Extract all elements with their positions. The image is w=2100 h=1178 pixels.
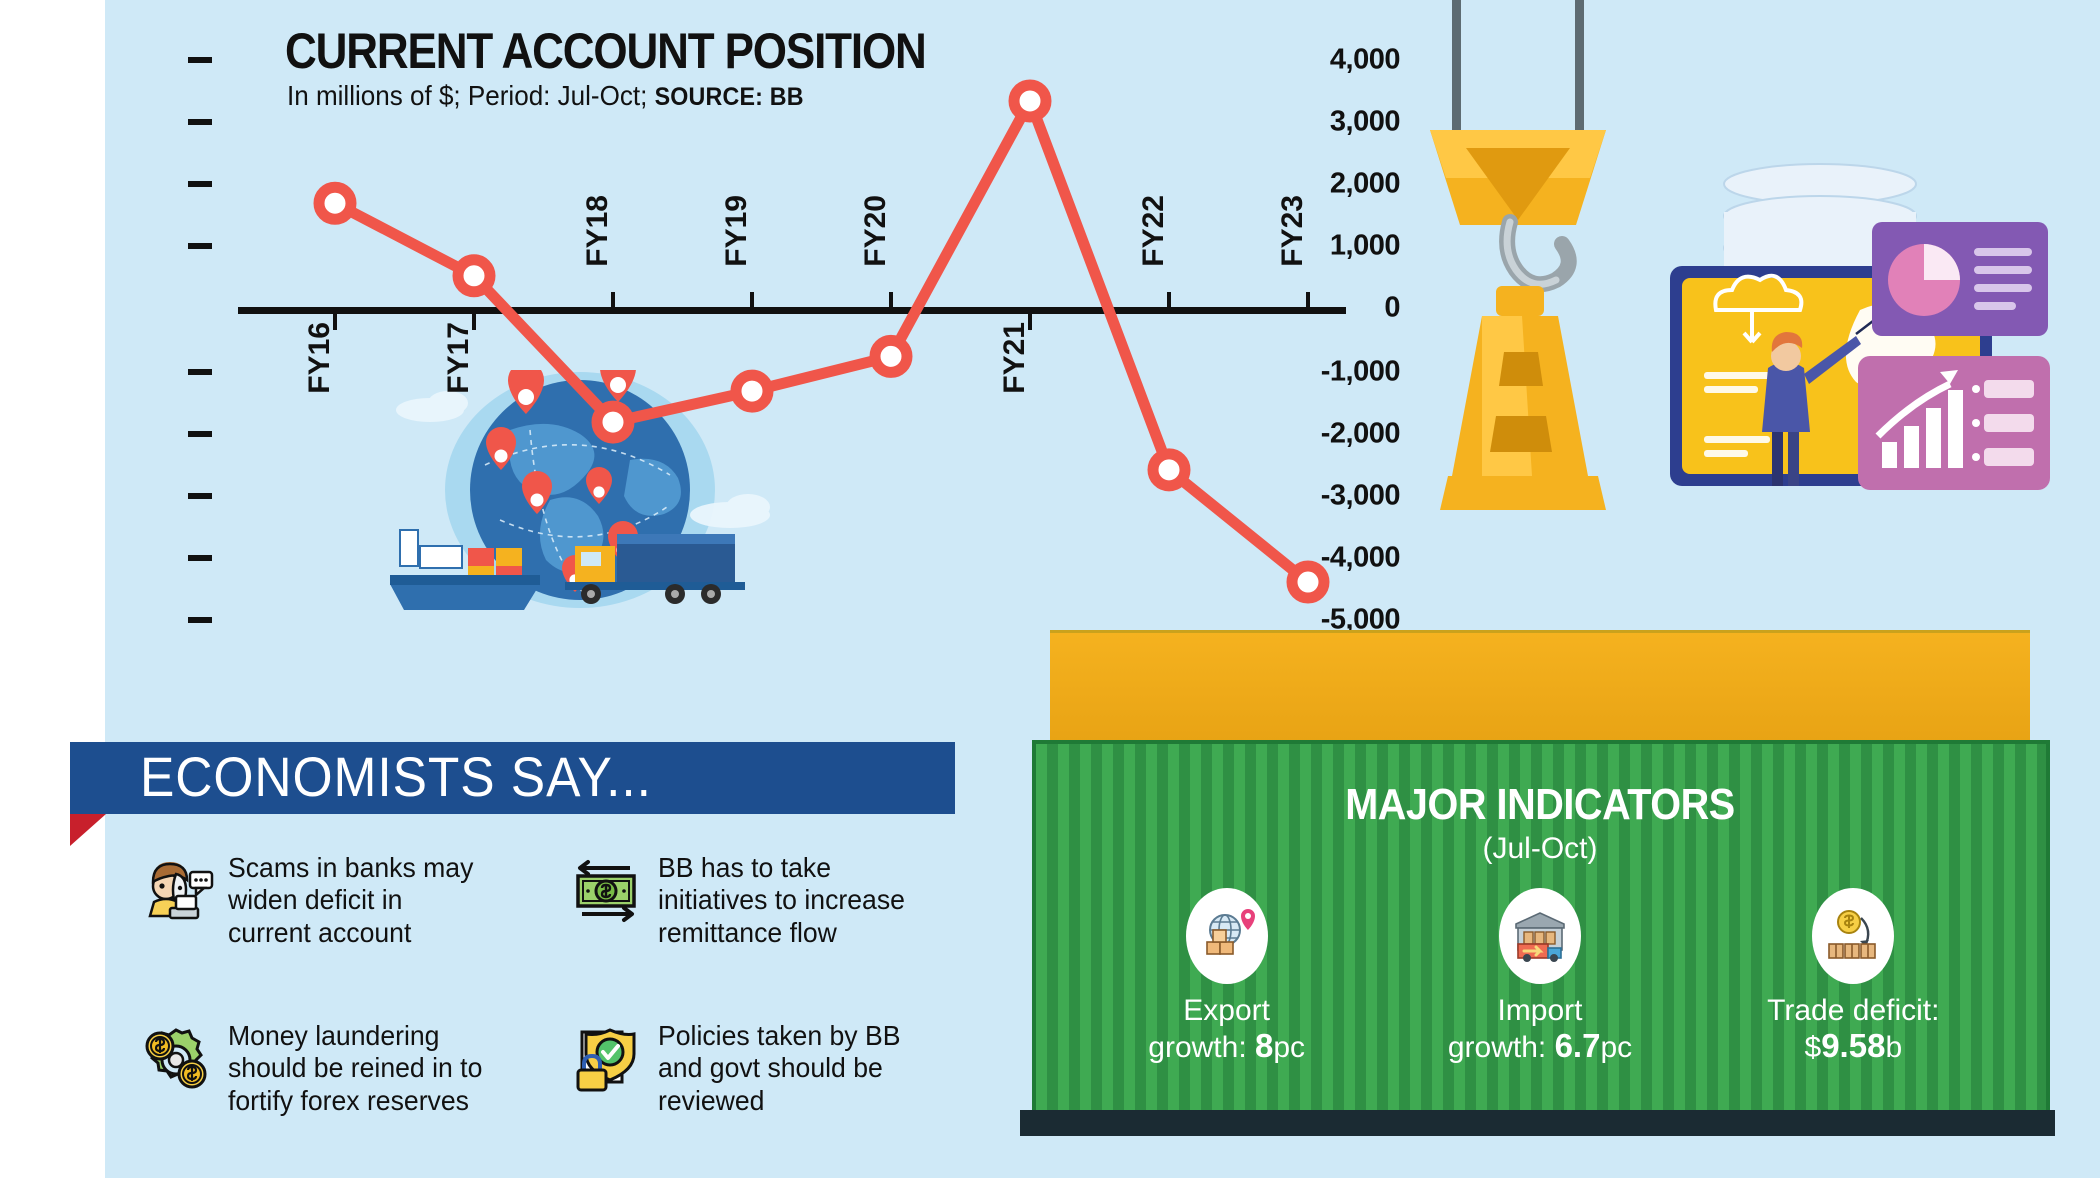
x-tick-fy18 — [611, 292, 615, 308]
y-tick-label-minus4000: -4,000 — [1225, 542, 1400, 575]
indicators-columns: Export growth: 8pc Import grow — [1070, 888, 2010, 1065]
indicator-trade-deficit-unit: b — [1885, 1031, 1902, 1064]
container-top-lid — [1050, 630, 2030, 743]
warehouse-truck-icon — [1499, 888, 1581, 984]
indicator-trade-deficit: Trade deficit: $9.58b — [1697, 888, 2010, 1065]
y-tick-label-minus1000: -1,000 — [1225, 356, 1400, 389]
document-shield-lock-icon — [570, 1020, 644, 1094]
chart-title: CURRENT ACCOUNT POSITION — [285, 22, 926, 80]
analyst-person-icon — [140, 852, 214, 926]
indicator-export-value: 8 — [1255, 1027, 1273, 1064]
coin-boxes-icon — [1812, 888, 1894, 984]
economist-text-2: BB has to take initiatives to increase r… — [658, 852, 915, 949]
data-point-FY18 — [597, 406, 629, 438]
y-tick-mark-4000 — [188, 57, 212, 63]
y-tick-label-4000: 4,000 — [1225, 44, 1400, 77]
y-tick-label-minus3000: -3,000 — [1225, 480, 1400, 513]
indicator-import-value-row: growth: 6.7pc — [1383, 1028, 1696, 1065]
economist-item-4: Policies taken by BB and govt should be … — [570, 1020, 928, 1117]
chart-subtitle-text: In millions of $; Period: Jul-Oct; — [287, 80, 655, 111]
indicator-import-unit: pc — [1600, 1031, 1632, 1064]
chart-subtitle: In millions of $; Period: Jul-Oct; SOURC… — [287, 80, 804, 112]
y-tick-mark-minus4000 — [188, 555, 212, 561]
y-tick-label-2000: 2,000 — [1225, 168, 1400, 201]
x-tick-fy19 — [750, 292, 754, 308]
indicator-export-label: Export — [1070, 994, 1383, 1028]
economist-item-1: Scams in banks may widen deficit in curr… — [140, 852, 498, 949]
globe-boxes-icon — [1186, 888, 1268, 984]
economist-text-1: Scams in banks may widen deficit in curr… — [228, 852, 485, 949]
x-label-fy18: FY18 — [581, 195, 615, 267]
x-tick-fy23 — [1306, 292, 1310, 308]
series-line — [335, 101, 1308, 582]
x-label-fy17: FY17 — [442, 322, 476, 394]
indicator-import-label: Import — [1383, 994, 1696, 1028]
indicators-period: (Jul-Oct) — [1010, 832, 2070, 866]
indicator-import: Import growth: 6.7pc — [1383, 888, 1696, 1065]
y-tick-label-1000: 1,000 — [1225, 230, 1400, 263]
container-base — [1020, 1110, 2055, 1136]
x-tick-fy20 — [889, 292, 893, 308]
data-point-FY19 — [736, 375, 768, 407]
y-tick-mark-minus3000 — [188, 493, 212, 499]
chart-source: SOURCE: BB — [655, 83, 804, 111]
banknote-exchange-icon — [570, 852, 644, 926]
money-gear-icon — [140, 1020, 214, 1094]
indicator-export-value-row: growth: 8pc — [1070, 1028, 1383, 1065]
infographic-root: CURRENT ACCOUNT POSITION In millions of … — [0, 0, 2100, 1178]
economist-text-4: Policies taken by BB and govt should be … — [658, 1020, 915, 1117]
x-label-fy22: FY22 — [1137, 195, 1171, 267]
indicators-title: MAJOR INDICATORS — [1063, 780, 2017, 830]
data-point-FY22 — [1153, 454, 1185, 486]
indicator-trade-deficit-value-row: $9.58b — [1697, 1028, 2010, 1065]
x-label-fy19: FY19 — [720, 195, 754, 267]
x-label-fy21: FY21 — [998, 322, 1032, 394]
indicator-export-prefix: growth: — [1148, 1031, 1255, 1064]
indicator-import-value: 6.7 — [1555, 1027, 1601, 1064]
x-tick-fy22 — [1167, 292, 1171, 308]
economist-text-3: Money laundering should be reined in to … — [228, 1020, 485, 1117]
y-tick-mark-1000 — [188, 243, 212, 249]
data-dashboard-illustration — [1620, 160, 2090, 510]
indicator-trade-deficit-value: 9.58 — [1821, 1027, 1885, 1064]
x-label-fy23: FY23 — [1276, 195, 1310, 267]
economist-item-2: BB has to take initiatives to increase r… — [570, 852, 928, 949]
y-tick-mark-2000 — [188, 181, 212, 187]
y-tick-mark-3000 — [188, 119, 212, 125]
x-label-fy16: FY16 — [303, 322, 337, 394]
economists-banner-title: ECONOMISTS SAY... — [140, 744, 652, 809]
current-account-chart: CURRENT ACCOUNT POSITION In millions of … — [0, 0, 1400, 640]
economist-item-3: Money laundering should be reined in to … — [140, 1020, 498, 1117]
indicator-import-prefix: growth: — [1448, 1031, 1555, 1064]
major-indicators-container: MAJOR INDICATORS (Jul-Oct) — [1010, 620, 2070, 1160]
y-tick-mark-minus5000 — [188, 617, 212, 623]
data-point-FY21 — [1014, 85, 1046, 117]
data-point-FY16 — [319, 187, 351, 219]
indicator-trade-deficit-prefix: $ — [1805, 1031, 1822, 1064]
indicator-export-unit: pc — [1273, 1031, 1305, 1064]
x-label-fy20: FY20 — [859, 195, 893, 267]
y-tick-mark-minus1000 — [188, 369, 212, 375]
indicator-export: Export growth: 8pc — [1070, 888, 1383, 1065]
data-point-FY17 — [458, 260, 490, 292]
y-tick-label-3000: 3,000 — [1225, 106, 1400, 139]
y-tick-mark-minus2000 — [188, 431, 212, 437]
y-tick-label-minus2000: -2,000 — [1225, 418, 1400, 451]
zero-axis-line — [238, 307, 1346, 314]
indicator-trade-deficit-label: Trade deficit: — [1697, 994, 2010, 1028]
data-point-FY20 — [875, 340, 907, 372]
